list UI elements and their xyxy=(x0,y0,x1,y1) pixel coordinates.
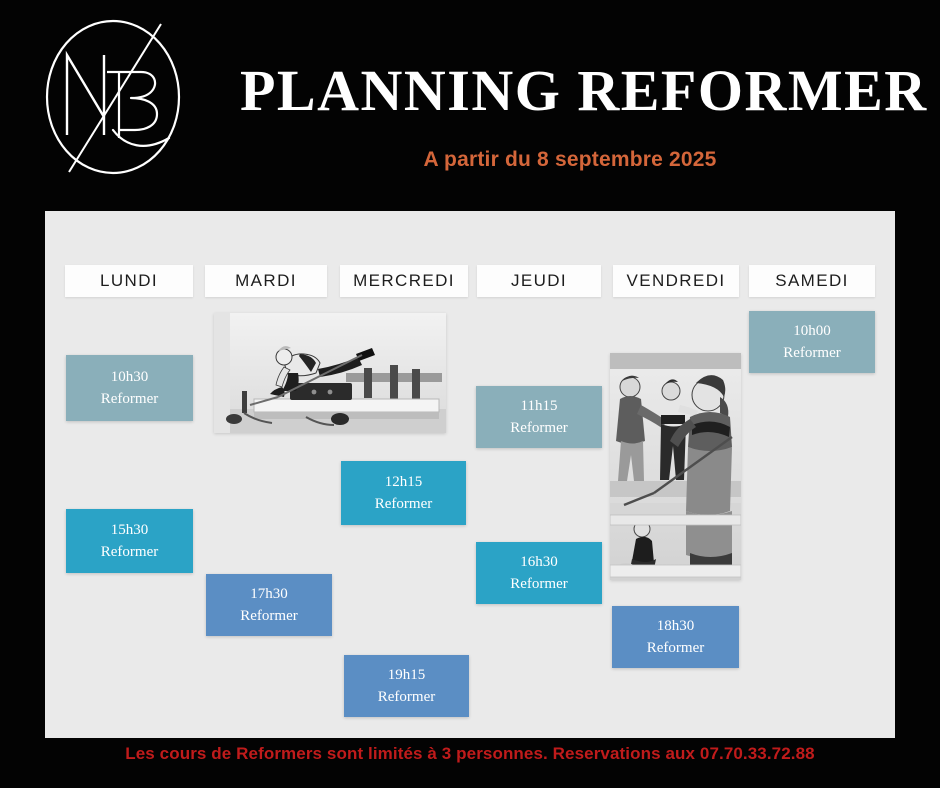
class-time: 12h15 xyxy=(385,471,423,494)
day-header-lundi: LUNDI xyxy=(65,265,193,297)
class-time: 10h30 xyxy=(111,366,149,389)
class-card-lundi-15h30[interactable]: 15h30Reformer xyxy=(66,509,193,573)
class-time: 17h30 xyxy=(250,583,288,606)
class-time: 11h15 xyxy=(521,395,558,418)
start-date-subtitle: A partir du 8 septembre 2025 xyxy=(240,148,900,172)
class-card-vendredi-18h30[interactable]: 18h30Reformer xyxy=(612,606,739,668)
class-card-samedi-10h00[interactable]: 10h00Reformer xyxy=(749,311,875,373)
pilates-reformer-photo-mardi xyxy=(214,313,446,433)
class-card-jeudi-11h15[interactable]: 11h15Reformer xyxy=(476,386,602,448)
class-card-mercredi-19h15[interactable]: 19h15Reformer xyxy=(344,655,469,717)
day-header-mercredi: MERCREDI xyxy=(340,265,468,297)
class-time: 16h30 xyxy=(520,551,558,574)
class-label: Reformer xyxy=(101,541,158,564)
page-title: PLANNING REFORMER xyxy=(240,62,900,120)
header-banner: PLANNING REFORMER A partir du 8 septembr… xyxy=(0,0,940,211)
mb-monogram-logo xyxy=(33,14,193,180)
footer-note: Les cours de Reformers sont limités à 3 … xyxy=(0,744,940,764)
day-header-jeudi: JEUDI xyxy=(477,265,601,297)
class-card-mercredi-12h15[interactable]: 12h15Reformer xyxy=(341,461,466,525)
class-label: Reformer xyxy=(510,417,567,440)
day-header-mardi: MARDI xyxy=(205,265,327,297)
class-card-lundi-10h30[interactable]: 10h30Reformer xyxy=(66,355,193,421)
class-label: Reformer xyxy=(378,686,435,709)
class-label: Reformer xyxy=(375,493,432,516)
class-time: 18h30 xyxy=(657,615,695,638)
class-label: Reformer xyxy=(240,605,297,628)
day-header-vendredi: VENDREDI xyxy=(613,265,739,297)
class-label: Reformer xyxy=(647,637,704,660)
class-label: Reformer xyxy=(510,573,567,596)
class-label: Reformer xyxy=(783,342,840,365)
class-time: 15h30 xyxy=(111,519,149,542)
pilates-group-photo-vendredi xyxy=(610,353,741,580)
class-card-mardi-17h30[interactable]: 17h30Reformer xyxy=(206,574,332,636)
day-header-samedi: SAMEDI xyxy=(749,265,875,297)
class-card-jeudi-16h30[interactable]: 16h30Reformer xyxy=(476,542,602,604)
class-time: 19h15 xyxy=(388,664,426,687)
class-time: 10h00 xyxy=(793,320,831,343)
class-label: Reformer xyxy=(101,388,158,411)
